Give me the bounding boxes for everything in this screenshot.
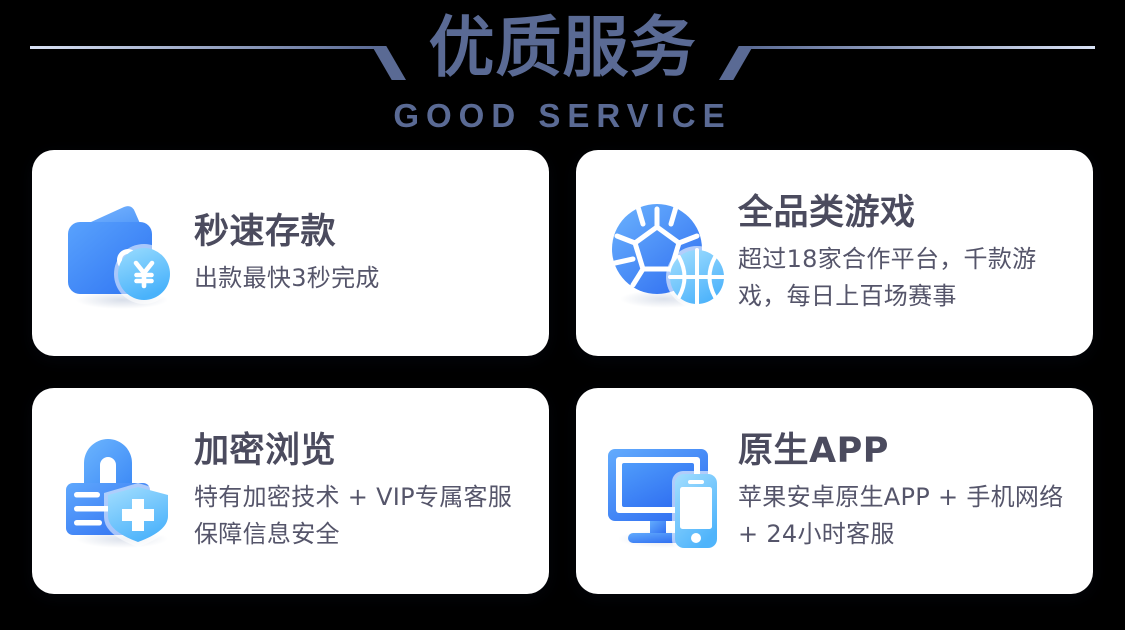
card-title: 全品类游戏	[738, 191, 1075, 235]
card-title: 加密浏览	[194, 429, 531, 473]
feature-card-native-app[interactable]: 原生APP 苹果安卓原生APP + 手机网络 + 24小时客服	[576, 388, 1093, 594]
wallet-yen-icon	[58, 187, 186, 319]
feature-card-grid: 秒速存款 出款最快3秒完成	[32, 150, 1093, 594]
monitor-phone-icon	[602, 425, 730, 557]
feature-card-text: 加密浏览 特有加密技术 + VIP专属客服保障信息安全	[186, 429, 531, 553]
card-description: 苹果安卓原生APP + 手机网络 + 24小时客服	[738, 479, 1074, 553]
promo-banner: 优质服务 GOOD SERVICE	[0, 0, 1125, 630]
card-title: 秒速存款	[194, 210, 531, 254]
card-description: 超过18家合作平台，千款游戏，每日上百场赛事	[738, 241, 1068, 315]
feature-card-text: 秒速存款 出款最快3秒完成	[186, 210, 531, 297]
page-subtitle: GOOD SERVICE	[0, 97, 1125, 135]
feature-card-games[interactable]: 全品类游戏 超过18家合作平台，千款游戏，每日上百场赛事	[576, 150, 1093, 356]
page-title: 优质服务	[0, 8, 1125, 88]
soccer-basketball-icon	[602, 187, 730, 319]
feature-card-encryption[interactable]: 加密浏览 特有加密技术 + VIP专属客服保障信息安全	[32, 388, 549, 594]
lock-shield-icon	[58, 425, 186, 557]
feature-card-text: 原生APP 苹果安卓原生APP + 手机网络 + 24小时客服	[730, 429, 1075, 553]
card-title: 原生APP	[738, 429, 1075, 473]
banner-header: 优质服务 GOOD SERVICE	[0, 0, 1125, 145]
card-description: 出款最快3秒完成	[194, 260, 530, 297]
feature-card-deposit[interactable]: 秒速存款 出款最快3秒完成	[32, 150, 549, 356]
card-description: 特有加密技术 + VIP专属客服保障信息安全	[194, 479, 530, 553]
feature-card-text: 全品类游戏 超过18家合作平台，千款游戏，每日上百场赛事	[730, 191, 1075, 315]
